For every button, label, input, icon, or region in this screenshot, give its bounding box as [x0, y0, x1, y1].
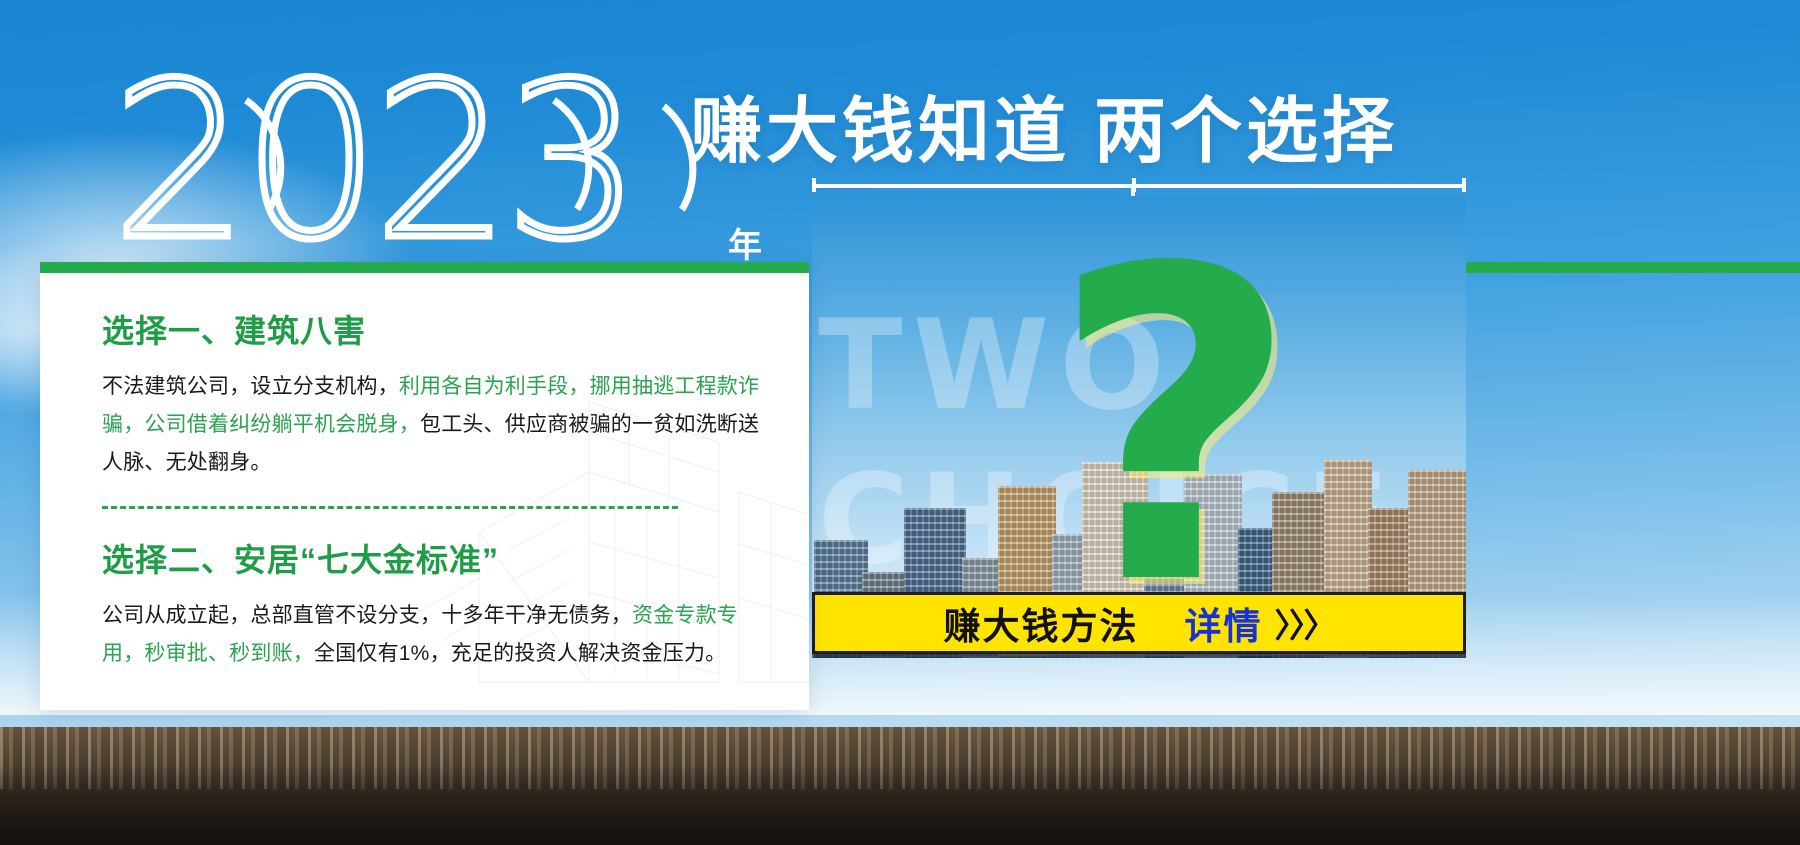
year-suffix-label: 年	[728, 218, 762, 267]
choice-one-title: 选择一、建筑八害	[102, 306, 779, 352]
cta-main-label: 赚大钱方法	[944, 596, 1139, 650]
section-divider	[102, 506, 678, 509]
headline-rule	[812, 178, 1466, 192]
promo-banner: 2023 年 赚大钱知道 两个选择 TWO CHOICES	[0, 0, 1800, 845]
choice-two-title: 选择二、安居“七大金标准”	[102, 535, 779, 581]
choice-two-segment: 全国仅有1%，充足的投资人解决资金压力。	[314, 642, 726, 665]
choice-one-text: 不法建筑公司，设立分支机构，利用各自为利手段，挪用抽逃工程款诈骗，公司借着纠纷躺…	[102, 368, 779, 482]
choice-block-one: 选择一、建筑八害 不法建筑公司，设立分支机构，利用各自为利手段，挪用抽逃工程款诈…	[102, 306, 779, 482]
bottom-city-strip	[0, 727, 1800, 845]
cta-bar[interactable]: 赚大钱方法 详情 〉〉〉	[812, 592, 1466, 654]
question-mark-icon: ?	[1050, 214, 1299, 644]
choice-one-segment: 不法建筑公司，设立分支机构，	[102, 375, 399, 398]
rule-line	[812, 184, 1466, 188]
choice-block-two: 选择二、安居“七大金标准” 公司从成立起，总部直管不设分支，十多年干净无债务，资…	[102, 535, 779, 673]
rule-tick-left	[812, 178, 816, 192]
card-body: 选择一、建筑八害 不法建筑公司，设立分支机构，利用各自为利手段，挪用抽逃工程款诈…	[102, 306, 779, 673]
content-card: 选择一、建筑八害 不法建筑公司，设立分支机构，利用各自为利手段，挪用抽逃工程款诈…	[40, 262, 809, 710]
right-green-accent-bar	[1466, 262, 1800, 273]
city-photo-panel: TWO CHOICES ?	[812, 196, 1466, 658]
card-top-accent-bar	[40, 262, 809, 273]
cta-detail-label: 详情	[1185, 596, 1263, 650]
rule-tick-right	[1462, 178, 1466, 192]
page-title: 赚大钱知道 两个选择	[690, 72, 1398, 177]
choice-two-text: 公司从成立起，总部直管不设分支，十多年干净无债务，资金专款专用，秒审批、秒到账，…	[102, 597, 779, 673]
cta-detail-link[interactable]: 详情 〉〉〉	[1185, 596, 1335, 650]
choice-two-segment: 公司从成立起，总部直管不设分支，十多年干净无债务，	[102, 604, 632, 627]
chevron-right-icon: 〉〉〉	[1275, 599, 1335, 647]
